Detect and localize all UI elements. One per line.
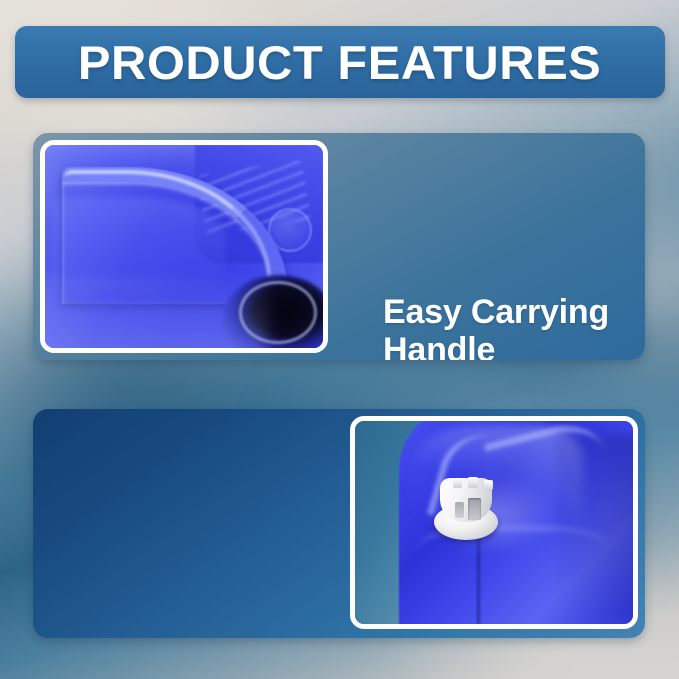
feature-image-handle xyxy=(40,140,328,353)
feature-image-air-vent xyxy=(350,416,638,629)
feature-title: Easy Carrying Handle xyxy=(383,293,645,360)
vent-cap-slot xyxy=(468,498,481,520)
vent-cap-slot xyxy=(455,502,464,518)
feature-card-air-vent: Air Vent Air vent allows smooth pouring … xyxy=(33,409,645,638)
handle-bottom-glow xyxy=(45,277,267,348)
vent-photo-canvas xyxy=(355,421,633,624)
vent-cap-top xyxy=(440,478,492,522)
product-features-infographic: PRODUCT FEATURES Easy Carrying Handle Ea… xyxy=(0,0,679,679)
air-vent-cap xyxy=(430,474,502,546)
vent-cap-notch xyxy=(484,480,493,490)
header-banner: PRODUCT FEATURES xyxy=(15,26,665,98)
feature-card-easy-carrying-handle: Easy Carrying Handle Easy transportation… xyxy=(33,133,645,360)
handle-photo-canvas xyxy=(45,145,323,348)
vent-cap-notch xyxy=(468,477,478,488)
page-title: PRODUCT FEATURES xyxy=(78,39,601,86)
jerrycan-shadow-right xyxy=(555,433,633,624)
vent-cap-notch xyxy=(453,478,462,488)
feature-text-handle: Easy Carrying Handle Easy transportation… xyxy=(383,293,645,360)
